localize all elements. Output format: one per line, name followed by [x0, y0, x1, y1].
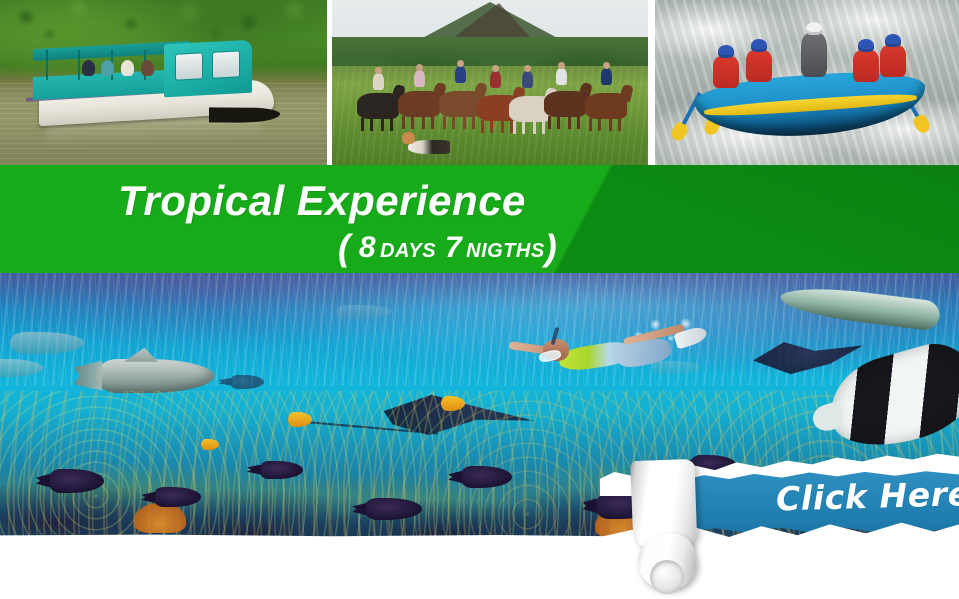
reef-fish: [259, 461, 303, 479]
subtitle-close-paren: ): [545, 227, 557, 268]
horse: [585, 93, 627, 119]
photo-horseback-riding[interactable]: [332, 0, 648, 166]
promo-banner: Tropical Experience ( 8 DAYS 7 NIGTHS): [0, 0, 959, 599]
days-label: DAYS: [380, 240, 436, 262]
horse: [439, 91, 481, 117]
horse: [398, 91, 440, 117]
rider: [522, 71, 533, 88]
snorkeler: [513, 319, 713, 399]
canopy-post: [46, 50, 48, 80]
rider: [373, 73, 384, 90]
horse: [357, 93, 399, 119]
cabin-window: [174, 51, 202, 80]
orange-coral: [134, 503, 186, 533]
days-number: 8: [359, 231, 376, 264]
dog: [408, 140, 450, 154]
rafter: [746, 50, 772, 82]
rider: [455, 66, 466, 83]
raft-guide: [801, 33, 827, 77]
photo-whitewater-rafting[interactable]: [655, 0, 959, 166]
white-footer-area: [0, 541, 959, 599]
cabin-window: [211, 49, 239, 78]
subtitle-open-paren: (: [338, 227, 350, 268]
nights-number: 7: [445, 231, 462, 264]
rider: [601, 68, 612, 85]
title-band: Tropical Experience ( 8 DAYS 7 NIGTHS): [0, 165, 959, 273]
horse: [544, 91, 586, 117]
boat-passenger: [141, 60, 154, 76]
boat-passenger: [101, 60, 114, 76]
rafter: [713, 56, 739, 88]
boat-cabin: [164, 39, 252, 97]
boat-passenger: [82, 60, 95, 76]
rider: [490, 71, 501, 88]
photo-strip: [0, 0, 959, 166]
rider: [556, 68, 567, 85]
title-wrapper: Tropical Experience ( 8 DAYS 7 NIGTHS): [0, 165, 959, 273]
click-here-button[interactable]: Click Here!: [776, 473, 959, 519]
rider: [414, 70, 425, 87]
nights-label: NIGTHS: [466, 240, 545, 262]
subtitle: ( 8 DAYS 7 NIGTHS): [338, 227, 557, 269]
headline: Tropical Experience: [118, 177, 526, 225]
photo-river-boat[interactable]: [0, 0, 327, 166]
boat-passenger: [121, 60, 134, 76]
rafter: [880, 45, 906, 77]
rafter: [853, 50, 879, 82]
